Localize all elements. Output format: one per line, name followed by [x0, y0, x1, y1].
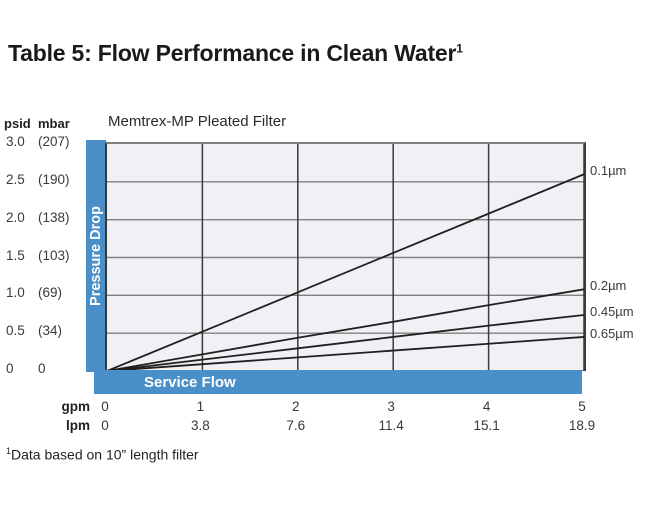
- y-axis-tick: 1.0(69): [0, 285, 84, 301]
- y-axis-tick-psid: 2.0: [6, 210, 34, 225]
- y-axis-tick-mbar: (103): [38, 248, 82, 263]
- chart-plot-area: [105, 142, 586, 371]
- y-axis-tick-psid: 1.0: [6, 285, 34, 300]
- x-axis-tick-lpm: 15.1: [473, 418, 499, 433]
- pressure-drop-band-text: Pressure Drop: [88, 206, 104, 306]
- service-flow-band-label: Service Flow: [94, 370, 582, 394]
- y-axis-tick-mbar: 0: [38, 361, 82, 376]
- series-label-0-1: 0.1µm: [590, 163, 626, 178]
- x-axis-tick-lpm: 11.4: [379, 418, 404, 433]
- y-axis-tick-psid: 1.5: [6, 248, 34, 263]
- y-axis-tick-psid: 0.5: [6, 323, 34, 338]
- x-axis-tick-gpm: 0: [101, 399, 109, 414]
- footnote-text: Data based on 10” length filter: [11, 447, 199, 463]
- series-line-0-2: [107, 289, 584, 371]
- pressure-drop-band-label: Pressure Drop: [86, 140, 106, 372]
- page-title-superscript: 1: [456, 41, 462, 55]
- y-axis-tick-psid: 3.0: [6, 134, 34, 149]
- y-axis-tick: 2.5(190): [0, 172, 84, 188]
- x-axis-tick-gpm: 2: [292, 399, 300, 414]
- y-axis-tick-mbar: (190): [38, 172, 82, 187]
- y-axis-tick: 2.0(138): [0, 210, 84, 226]
- y-axis-tick-mbar: (69): [38, 285, 82, 300]
- x-axis-row-gpm: gpm 012345: [0, 399, 650, 418]
- service-flow-band-text: Service Flow: [144, 374, 236, 391]
- x-axis-unit-gpm: gpm: [34, 399, 90, 414]
- y-axis-tick: 1.5(103): [0, 248, 84, 264]
- y-axis-tick-mbar: (34): [38, 323, 82, 338]
- x-axis-row-lpm: lpm 03.87.611.415.118.9: [0, 418, 650, 437]
- series-label-0-65: 0.65µm: [590, 326, 634, 341]
- x-axis-tick-gpm: 5: [578, 399, 586, 414]
- x-axis-labels: gpm 012345 lpm 03.87.611.415.118.9: [0, 399, 650, 437]
- chart-svg: [107, 144, 584, 371]
- x-axis-tick-gpm: 1: [197, 399, 205, 414]
- y-axis-tick-mbar: (138): [38, 210, 82, 225]
- y-axis-tick-psid: 0: [6, 361, 34, 376]
- y-axis-tick-psid: 2.5: [6, 172, 34, 187]
- x-axis-tick-lpm: 0: [101, 418, 109, 433]
- x-axis-unit-lpm: lpm: [34, 418, 90, 433]
- series-label-0-2: 0.2µm: [590, 278, 626, 293]
- x-axis-tick-lpm: 3.8: [191, 418, 210, 433]
- x-axis-tick-gpm: 4: [483, 399, 491, 414]
- y-axis-tick: 0.5(34): [0, 323, 84, 339]
- x-axis-tick-lpm: 18.9: [569, 418, 595, 433]
- y-axis-tick: 3.0(207): [0, 134, 84, 150]
- y-axis-tick: 00: [0, 361, 84, 377]
- footnote: 1Data based on 10” length filter: [6, 446, 199, 463]
- series-label-0-45: 0.45µm: [590, 304, 634, 319]
- x-axis-tick-lpm: 7.6: [286, 418, 305, 433]
- y-axis-tick-mbar: (207): [38, 134, 82, 149]
- series-line-0-45: [107, 315, 584, 371]
- plot-subtitle: Memtrex-MP Pleated Filter: [108, 113, 286, 130]
- series-lines: [107, 174, 584, 371]
- x-axis-tick-gpm: 3: [387, 399, 395, 414]
- y-axis-labels: 3.0(207)2.5(190)2.0(138)1.5(103)1.0(69)0…: [0, 0, 86, 517]
